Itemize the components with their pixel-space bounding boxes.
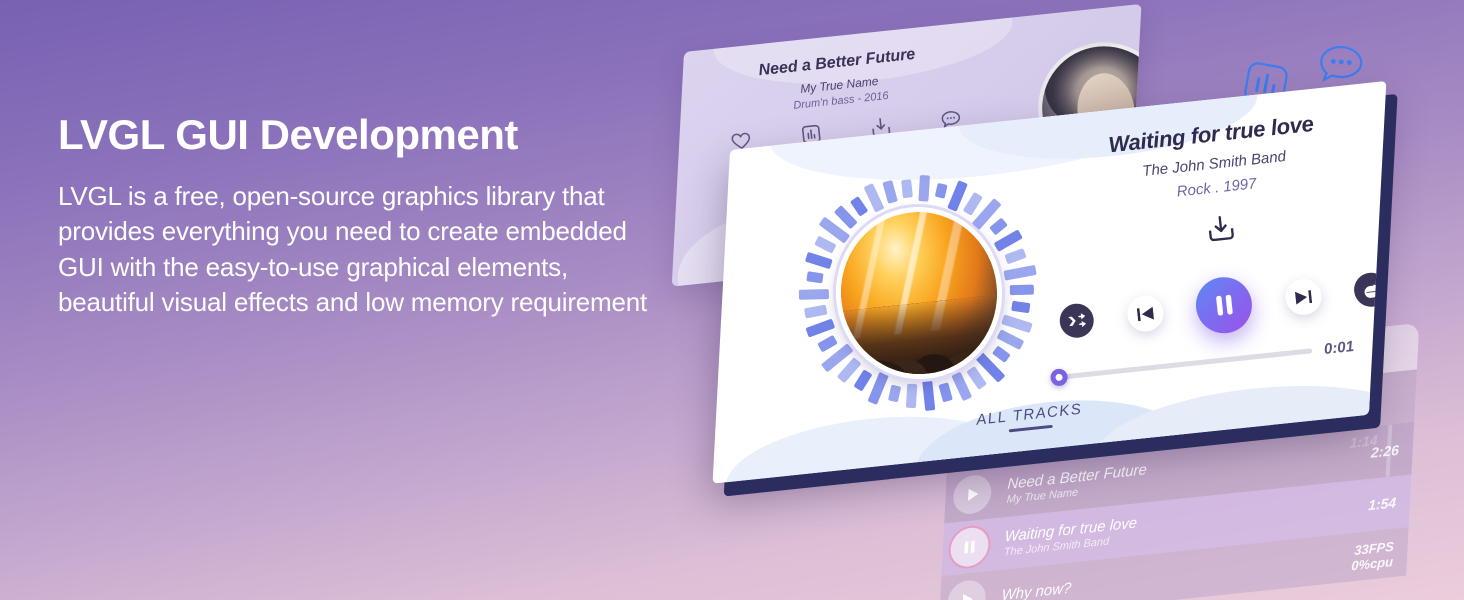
spectrum-bar [922,380,935,411]
spectrum-bar [901,179,913,198]
album-cover-image [827,199,1010,387]
spectrum-bar [1011,301,1030,313]
spectrum-bar [817,335,838,353]
progress-slider[interactable] [1055,348,1312,380]
spectrum-bar [1004,248,1026,264]
banner-stage: LVGL GUI Development LVGL is a free, ope… [0,0,1464,600]
spectrum-bar [1003,265,1036,281]
spectrum-bar [814,236,836,254]
shuffle-icon[interactable] [1058,302,1095,339]
spectrum-bar [938,382,952,402]
page-title: LVGL GUI Development [58,112,658,157]
album-art-main [785,155,1050,429]
pause-icon[interactable] [950,526,990,568]
spectrum-bar [1010,285,1034,296]
spectrum-bar [805,252,833,269]
play-icon[interactable] [952,473,992,515]
hero-description: LVGL is a free, open-source graphics lib… [58,179,658,319]
spectrum-bar [966,366,987,390]
slider-knob[interactable] [1050,368,1069,387]
play-icon[interactable] [947,579,987,600]
main-player-card[interactable]: Waiting for true love The John Smith Ban… [713,81,1387,484]
spectrum-bar [799,289,829,300]
spectrum-bar [989,218,1008,236]
spectrum-bar [935,183,948,199]
spectrum-bar [850,196,868,217]
spectrum-bar [804,305,827,319]
save-button[interactable] [1070,200,1371,257]
status-badge: 33FPS 0%cpu [1351,540,1394,575]
list-item-title: Why now? [1001,580,1072,600]
spectrum-bar [888,385,901,403]
spectrum-bar [806,271,823,283]
previous-icon[interactable] [1125,294,1165,334]
list-item-duration: 1:54 [1368,494,1397,513]
playback-controls [1057,260,1386,350]
cpu-counter: 0%cpu [1351,555,1393,574]
chat-bubble-icon [1317,42,1366,89]
repeat-icon[interactable] [1352,271,1386,308]
pause-icon[interactable] [1193,274,1255,336]
elapsed-time: 0:01 [1323,338,1355,358]
spectrum-bar [918,175,930,202]
next-icon[interactable] [1283,277,1323,317]
list-item-duration: 2:26 [1371,442,1400,461]
download-icon[interactable] [1207,214,1236,243]
spectrum-bar [906,384,917,409]
spectrum-bar [1001,314,1033,333]
hero-copy: LVGL GUI Development LVGL is a free, ope… [58,112,658,320]
spectrum-bar [882,180,898,204]
